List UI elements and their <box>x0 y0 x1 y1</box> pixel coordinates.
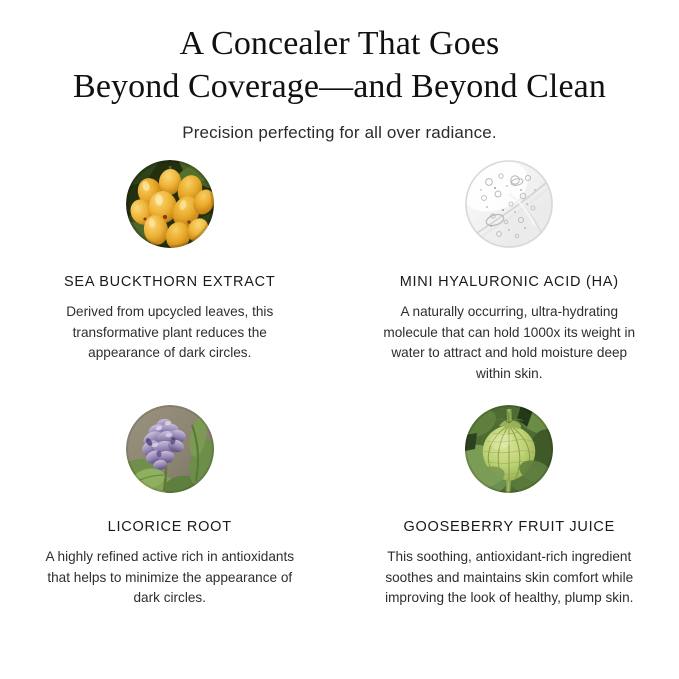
sea-buckthorn-berries-photo <box>126 160 214 248</box>
ingredient-description: A naturally occurring, ultra-hydrating m… <box>383 302 635 384</box>
page-title: A Concealer That Goes Beyond Coverage—an… <box>0 22 679 108</box>
ingredient-infographic: A Concealer That Goes Beyond Coverage—an… <box>0 0 679 679</box>
ingredient-description: This soothing, antioxidant-rich ingredie… <box>383 547 635 608</box>
ingredient-grid: SEA BUCKTHORN EXTRACT Derived from upcyc… <box>0 160 679 609</box>
ingredient-description: A highly refined active rich in antioxid… <box>44 547 296 608</box>
ingredient-name: SEA BUCKTHORN EXTRACT <box>64 274 276 291</box>
ingredient-card-gooseberry: GOOSEBERRY FRUIT JUICE This soothing, an… <box>340 405 679 609</box>
hyaluronic-acid-gel-texture-photo <box>465 160 553 248</box>
ingredient-name: GOOSEBERRY FRUIT JUICE <box>404 519 616 536</box>
gooseberry-fruit-photo <box>465 405 553 493</box>
ingredient-card-hyaluronic-acid: MINI HYALURONIC ACID (HA) A naturally oc… <box>340 160 679 405</box>
page-subtitle: Precision perfecting for all over radian… <box>0 123 679 143</box>
ingredient-description: Derived from upcycled leaves, this trans… <box>44 302 296 363</box>
headline-line-1: A Concealer That Goes <box>24 22 655 65</box>
licorice-root-flower-photo <box>126 405 214 493</box>
headline-line-2: Beyond Coverage—and Beyond Clean <box>24 65 655 108</box>
ingredient-name: MINI HYALURONIC ACID (HA) <box>400 274 619 291</box>
header: A Concealer That Goes Beyond Coverage—an… <box>0 0 679 143</box>
ingredient-name: LICORICE ROOT <box>108 519 232 536</box>
ingredient-card-sea-buckthorn: SEA BUCKTHORN EXTRACT Derived from upcyc… <box>0 160 340 405</box>
ingredient-card-licorice-root: LICORICE ROOT A highly refined active ri… <box>0 405 340 609</box>
